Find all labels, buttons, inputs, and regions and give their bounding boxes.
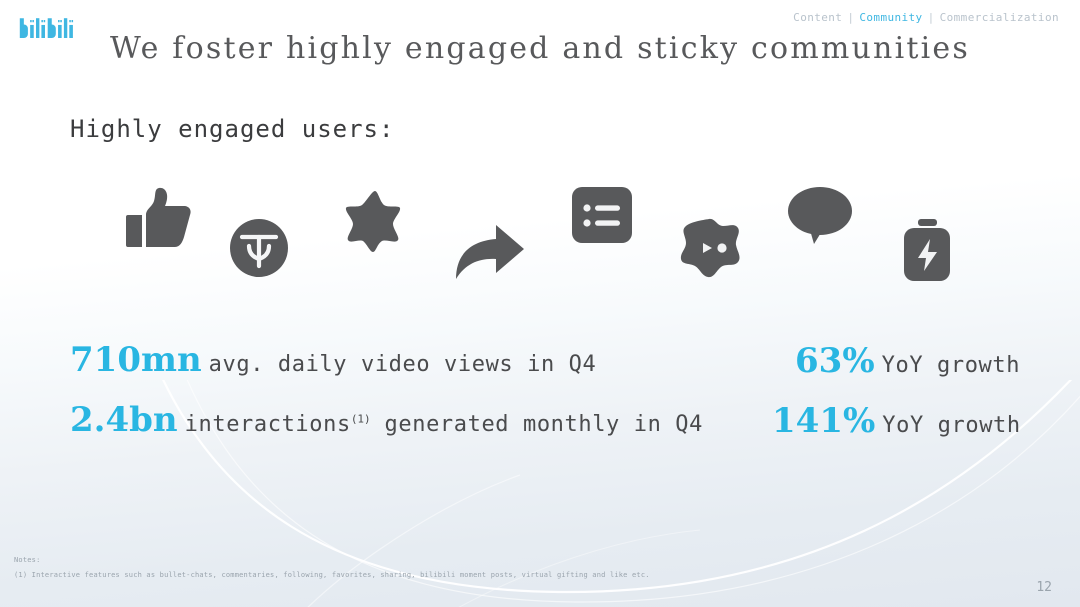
stat-label-video-views: avg. daily video views in Q4	[209, 352, 597, 377]
stat-label-interactions: interactions(1) generated monthly in Q4	[185, 412, 703, 437]
section-heading: Highly engaged users:	[70, 115, 394, 143]
footnote-marker: (1)	[351, 413, 371, 426]
playlist-icon	[572, 187, 632, 243]
nav-item-community[interactable]: Community	[854, 11, 927, 24]
growth-row-video-views: 63% YoY growth	[795, 341, 1020, 381]
stat-row-interactions: 2.4bn interactions(1) generated monthly …	[70, 400, 703, 440]
engagement-icon-row	[110, 175, 990, 290]
coin-icon	[230, 219, 288, 277]
star-icon	[342, 190, 408, 252]
growth-label-interactions: YoY growth	[882, 413, 1020, 438]
thumbs-up-icon	[126, 187, 194, 251]
slide: Content | Community | Commercialization …	[0, 0, 1080, 607]
nav-item-content[interactable]: Content	[788, 11, 847, 24]
footnotes: Notes: (1) Interactive features such as …	[14, 556, 650, 579]
nav-separator: |	[847, 11, 854, 24]
growth-value-video-views: 63%	[795, 341, 875, 381]
share-arrow-icon	[452, 223, 526, 281]
stat-label-interactions-after: generated monthly in Q4	[371, 412, 703, 437]
growth-label-video-views: YoY growth	[882, 353, 1020, 378]
nav-item-commercialization[interactable]: Commercialization	[935, 11, 1064, 24]
footnotes-title: Notes:	[14, 556, 650, 564]
speech-bubble-icon	[788, 186, 852, 244]
footnote-item: (1) Interactive features such as bullet-…	[14, 571, 650, 579]
stat-value-interactions: 2.4bn	[70, 400, 178, 440]
charge-battery-icon	[900, 219, 954, 281]
growth-row-interactions: 141% YoY growth	[772, 401, 1021, 441]
growth-value-interactions: 141%	[772, 401, 875, 441]
sticker-face-icon	[680, 218, 742, 278]
stat-label-interactions-before: interactions	[185, 412, 351, 437]
nav-separator: |	[928, 11, 935, 24]
stat-value-video-views: 710mn	[70, 340, 202, 380]
stat-row-video-views: 710mn avg. daily video views in Q4	[70, 340, 596, 380]
page-title: We foster highly engaged and sticky comm…	[0, 31, 1080, 66]
page-number: 12	[1036, 580, 1052, 595]
top-navigation[interactable]: Content | Community | Commercialization	[788, 11, 1064, 24]
